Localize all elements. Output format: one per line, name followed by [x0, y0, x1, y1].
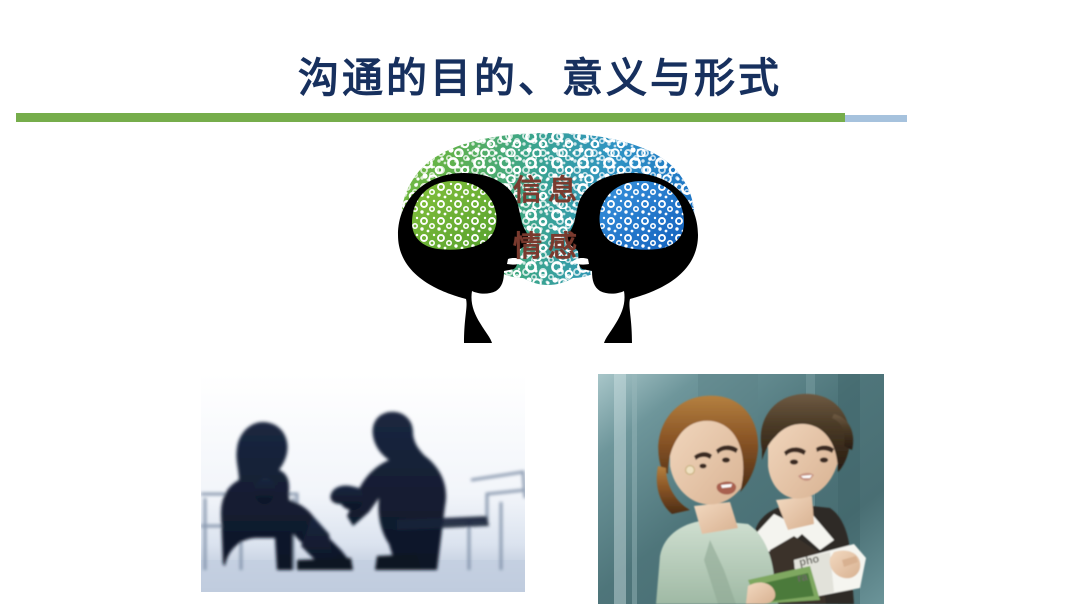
photo-two-men-talking [201, 374, 525, 592]
two-women-reading-graphic: pho ra [598, 374, 884, 604]
earring-icon [686, 466, 695, 475]
page-title: 沟通的目的、意义与形式 [0, 44, 1080, 104]
divider-blue-segment [845, 115, 907, 122]
title-divider [16, 113, 890, 122]
photo-two-women-reading: pho ra [598, 374, 884, 604]
divider-green-segment [16, 113, 845, 122]
right-head-silhouette [568, 171, 698, 343]
left-head-silhouette [398, 171, 528, 343]
speech-bubble-graphic [368, 131, 728, 353]
communication-illustration: 信息 情感 [368, 131, 728, 353]
two-men-talking-graphic [201, 374, 525, 592]
